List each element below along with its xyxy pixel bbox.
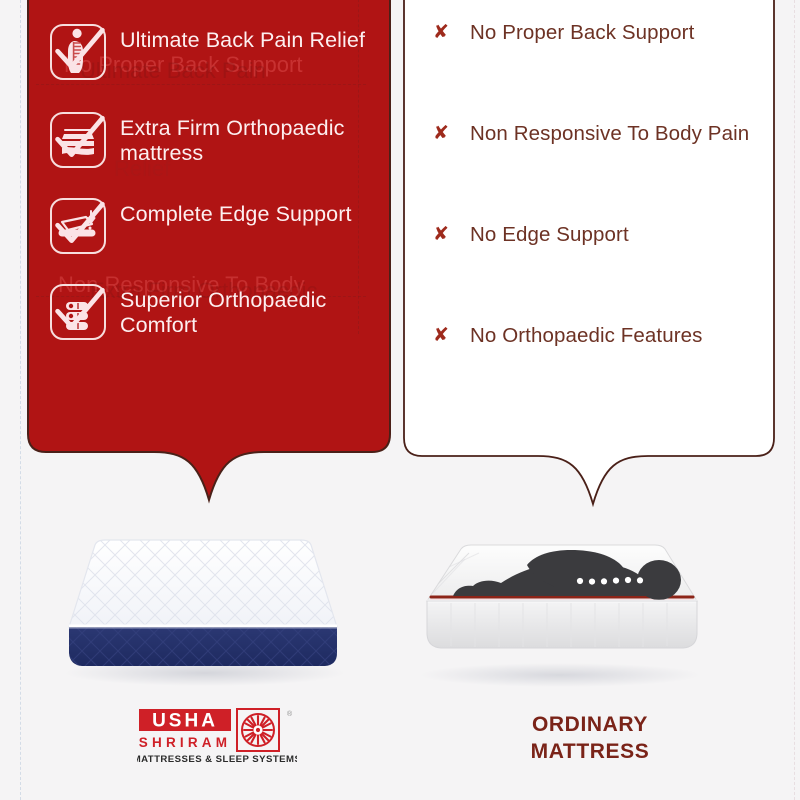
drawback-label: No Orthopaedic Features	[470, 323, 702, 348]
benefit-label: Ultimate Back Pain Relief	[120, 24, 365, 53]
usha-benefits-content: No Proper Back Support Ultimate Back Pai…	[28, 0, 390, 536]
caption-line-1: ORDINARY	[532, 713, 648, 736]
drawback-item[interactable]: ✘ No Orthopaedic Features	[430, 323, 758, 348]
guide-line-left	[20, 0, 21, 800]
drawback-label: No Edge Support	[470, 222, 629, 247]
benefit-list: Ultimate Back Pain Relief	[50, 24, 376, 340]
ordinary-mattress-image	[405, 535, 715, 690]
benefit-item[interactable]: Extra Firm Orthopaedic mattress	[50, 112, 376, 168]
drawback-label: No Proper Back Support	[470, 20, 694, 45]
ordinary-mattress-caption: ORDINARY MATTRESS	[455, 712, 725, 766]
drawback-list: ✘ No Proper Back Support ✘ Non Responsiv…	[430, 20, 758, 348]
svg-text:USHA: USHA	[152, 711, 218, 732]
spine-posture-icon	[50, 24, 106, 80]
guide-line-right	[794, 0, 795, 800]
ordinary-drawbacks-content: ✘ No Proper Back Support ✘ Non Responsiv…	[404, 0, 774, 536]
benefit-label: Superior Orthopaedic Comfort	[120, 284, 368, 339]
benefit-item[interactable]: Superior Orthopaedic Comfort	[50, 284, 376, 340]
firm-mattress-layers-icon	[50, 112, 106, 168]
benefit-item[interactable]: Ultimate Back Pain Relief	[50, 24, 376, 80]
svg-text:SHRIRAM: SHRIRAM	[139, 735, 231, 750]
comparison-infographic: No Proper Back Support Ultimate Back Pai…	[0, 0, 800, 800]
drawback-item[interactable]: ✘ Non Responsive To Body Pain	[430, 121, 758, 146]
cross-icon: ✘	[430, 20, 452, 44]
usha-mattress-image	[55, 525, 350, 690]
usha-benefits-panel: No Proper Back Support Ultimate Back Pai…	[28, 0, 390, 536]
usha-shriram-logo: USHA SHRIRAM ® MATTRESSES & SLEEP SYSTEM…	[137, 707, 297, 765]
benefit-label: Extra Firm Orthopaedic mattress	[120, 112, 368, 167]
cross-icon: ✘	[430, 323, 452, 347]
starburst-emblem	[242, 714, 274, 746]
drawback-item[interactable]: ✘ No Proper Back Support	[430, 20, 758, 45]
cross-icon: ✘	[430, 222, 452, 246]
edge-support-icon	[50, 198, 106, 254]
trademark-symbol: ®	[287, 710, 293, 718]
logo-tagline: MATTRESSES & SLEEP SYSTEMS	[137, 754, 297, 765]
ordinary-drawbacks-panel: ✘ No Proper Back Support ✘ Non Responsiv…	[404, 0, 774, 536]
cross-icon: ✘	[430, 121, 452, 145]
caption-line-2: MATTRESS	[455, 739, 725, 766]
drawback-item[interactable]: ✘ No Edge Support	[430, 222, 758, 247]
benefit-label: Complete Edge Support	[120, 198, 352, 227]
vertebrae-stack-icon	[50, 284, 106, 340]
drawback-label: Non Responsive To Body Pain	[470, 121, 749, 146]
benefit-item[interactable]: Complete Edge Support	[50, 198, 376, 254]
